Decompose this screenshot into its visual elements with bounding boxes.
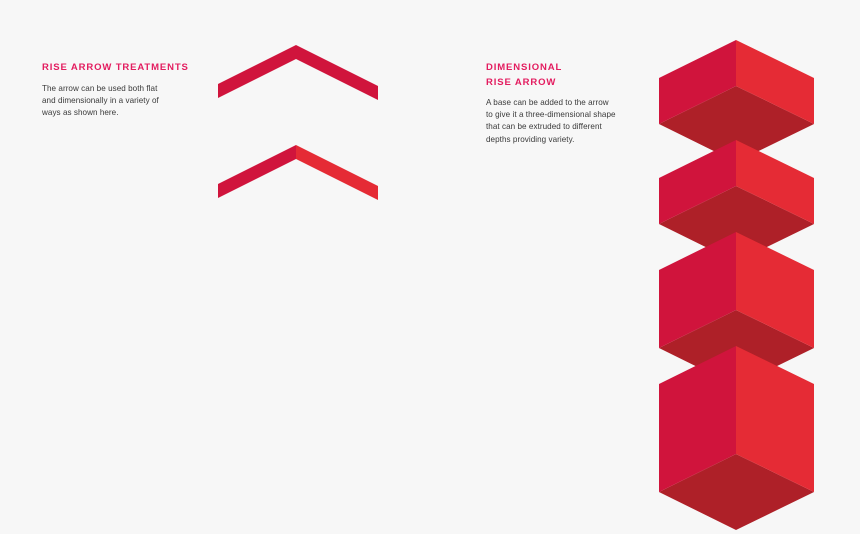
chevron-right-wing (296, 145, 378, 200)
left-body-text: The arrow can be used both flat and dime… (42, 83, 217, 120)
extruded-block-deepest-icon (655, 342, 818, 534)
right-body-line: A base can be added to the arrow (486, 97, 666, 109)
chevron-left-wing (218, 145, 296, 198)
left-heading: RISE ARROW TREATMENTS (42, 61, 217, 76)
right-heading-line: RISE ARROW (486, 76, 666, 91)
left-body-line: The arrow can be used both flat (42, 83, 217, 95)
right-body-line: to give it a three-dimensional shape (486, 109, 666, 121)
right-body-line: that can be extruded to different (486, 121, 666, 133)
dimensional-rise-arrow-icon (218, 140, 383, 200)
left-heading-line: RISE ARROW TREATMENTS (42, 61, 217, 76)
flat-rise-arrow-icon (218, 40, 383, 100)
left-text-block: RISE ARROW TREATMENTS The arrow can be u… (42, 61, 217, 119)
style-guide-canvas: RISE ARROW TREATMENTS The arrow can be u… (0, 0, 860, 519)
flat-chevron-shape (218, 45, 378, 100)
right-text-block: DIMENSIONAL RISE ARROW A base can be add… (486, 61, 666, 146)
left-body-line: and dimensionally in a variety of (42, 95, 217, 107)
right-body-line: depths providing variety. (486, 134, 666, 146)
right-body-text: A base can be added to the arrow to give… (486, 97, 666, 146)
left-body-line: ways as shown here. (42, 107, 217, 119)
right-heading-line: DIMENSIONAL (486, 61, 666, 76)
right-heading: DIMENSIONAL RISE ARROW (486, 61, 666, 90)
